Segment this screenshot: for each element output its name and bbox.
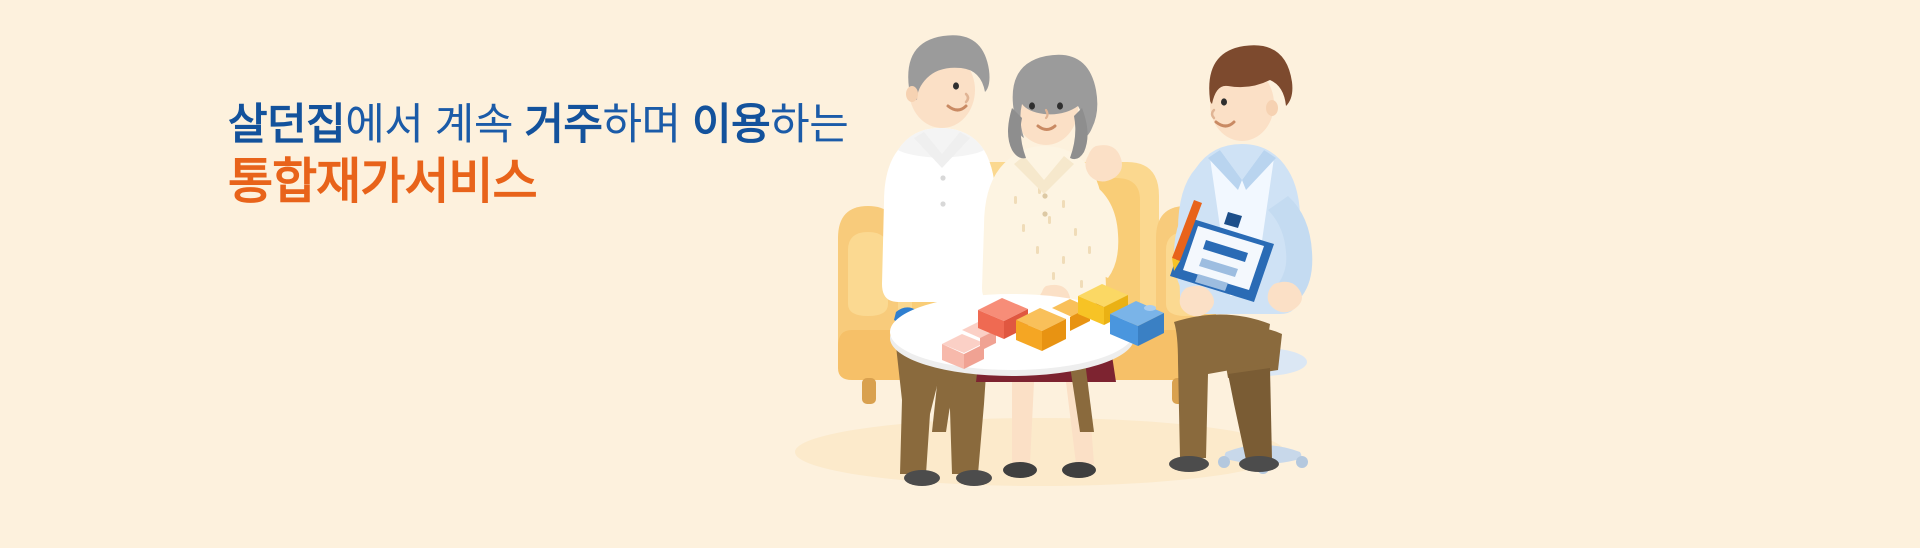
headline-block: 살던집에서 계속 거주하며 이용하는 통합재가서비스: [228, 104, 848, 207]
scene-illustration: [790, 0, 1350, 548]
care-worker-eye: [1221, 98, 1227, 105]
floor-shadow: [795, 418, 1285, 486]
headline-text-hamyeo: 하며: [602, 101, 692, 149]
headline-line-2: 통합재가서비스: [228, 158, 848, 207]
care-worker-shoe-back: [1239, 456, 1279, 472]
headline-emphasis-iyong: 이용: [692, 101, 770, 149]
care-worker-shoe-front: [1169, 456, 1209, 472]
promo-banner: 살던집에서 계속 거주하며 이용하는 통합재가서비스: [0, 0, 1920, 548]
headline-emphasis-salden: 살던집: [228, 101, 345, 149]
elderly-woman-shoe-left: [1003, 462, 1037, 478]
elderly-man-shoe-left: [904, 470, 940, 486]
headline-emphasis-geoju: 거주: [524, 101, 602, 149]
elderly-man-eye: [953, 82, 959, 89]
headline-text-eseo: 에서 계속: [345, 101, 524, 149]
headline-text-haneun: 하는: [770, 101, 848, 149]
headline-line-1: 살던집에서 계속 거주하며 이용하는: [228, 104, 848, 147]
elderly-woman-figure: [976, 55, 1122, 478]
elderly-man-shoe-right: [956, 470, 992, 486]
elderly-woman-eye-right: [1057, 102, 1063, 109]
elderly-woman-shoe-right: [1062, 462, 1096, 478]
care-worker-figure: [1169, 45, 1312, 474]
elderly-woman-eye-left: [1029, 102, 1035, 109]
illustration-svg: [790, 0, 1350, 548]
